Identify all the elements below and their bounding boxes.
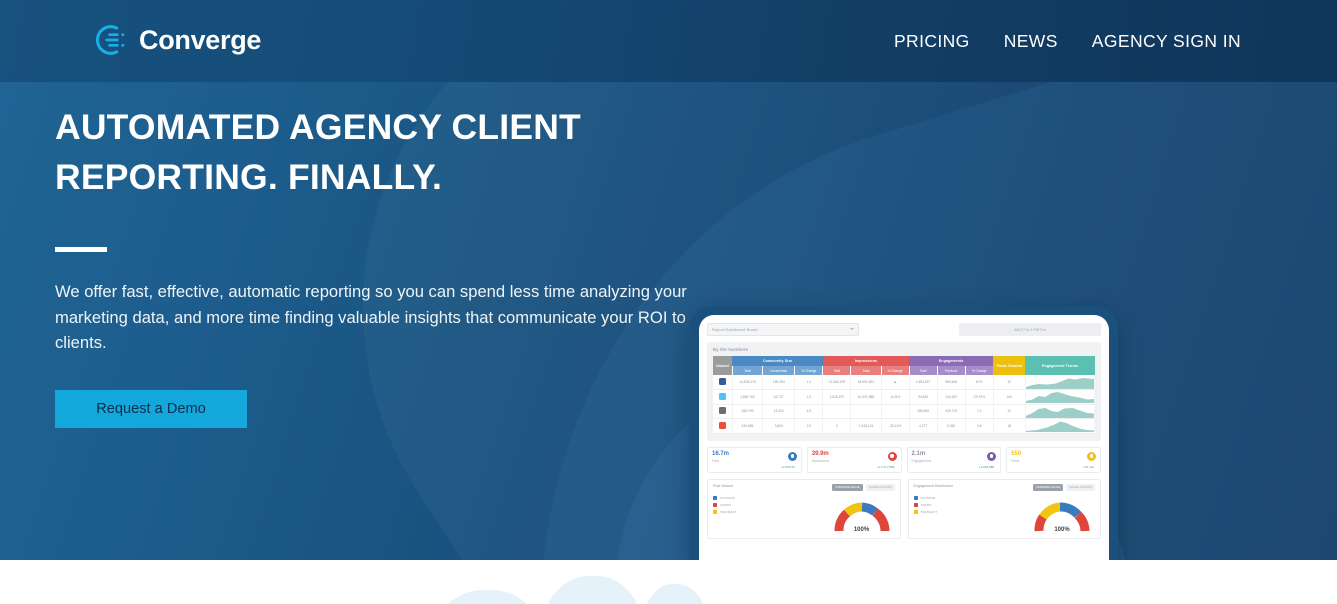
nav-link-news[interactable]: NEWS bbox=[1004, 28, 1058, 54]
hero-title-line-2: REPORTING. FINALLY. bbox=[55, 157, 442, 197]
dashboard-filter-select[interactable]: Report Dashboard Board bbox=[707, 323, 859, 336]
compare-value-button[interactable]: COMPARE VALUE bbox=[1033, 484, 1063, 491]
cell-engagements-total: 1,654,827 bbox=[909, 375, 937, 390]
site-header: Converge PRICING NEWS AGENCY SIGN IN bbox=[0, 0, 1337, 82]
cell-community-incremental: 169,383 bbox=[763, 375, 795, 390]
legend-swatch-assist bbox=[713, 503, 717, 507]
col-header-engagement-trends: Engagement Trends bbox=[1025, 356, 1094, 375]
sub-header-impressions-paid: Paid bbox=[823, 366, 851, 375]
cell-engagements-previous: 439,719 bbox=[937, 404, 965, 419]
sparkline-cell bbox=[1025, 375, 1094, 390]
compare-value-button[interactable]: COMPARE VALUE bbox=[832, 484, 862, 491]
kpi-delta: +1,603.885 bbox=[979, 465, 995, 469]
kpi-card-impressions[interactable]: 39.9m Impressions +17.3x (788) bbox=[807, 447, 902, 473]
panel-title: By the Numbers bbox=[713, 347, 1095, 352]
cell-engagements-total: 4,277 bbox=[909, 419, 937, 434]
cell-community-total: 368,799 bbox=[732, 404, 762, 419]
cell-engagements-change: 67% bbox=[965, 375, 993, 390]
gauge-value: 100% bbox=[834, 527, 890, 533]
cell-posts-created: 18 bbox=[993, 419, 1025, 434]
sparkline-cell bbox=[1025, 419, 1094, 434]
sub-header-community-total: Total bbox=[732, 366, 762, 375]
sub-header-engagements-total: Total bbox=[909, 366, 937, 375]
cell-impressions-paid: 12,552,209 bbox=[823, 375, 851, 390]
cell-impressions-change: ▲ bbox=[881, 375, 909, 390]
cell-impressions-change: - bbox=[881, 404, 909, 419]
cell-community-incremental: 14,320 bbox=[763, 404, 795, 419]
decorative-blob-3 bbox=[640, 584, 710, 604]
col-group-impressions: Impressions bbox=[823, 356, 909, 366]
legend-label: ACTIVATE bbox=[921, 496, 936, 500]
channel-cell bbox=[713, 419, 732, 434]
sparkline-cell bbox=[1025, 404, 1094, 419]
facebook-icon bbox=[719, 378, 726, 385]
cell-impressions-change: -30.12% bbox=[881, 419, 909, 434]
gauge-card-post-volume: Post Volume COMPARE VALUE SHARE ACROSS A… bbox=[707, 479, 901, 539]
share-across-button[interactable]: SHARE ACROSS bbox=[866, 484, 895, 491]
engagement-trend-sparkline bbox=[1026, 376, 1094, 389]
brand-name: Converge bbox=[139, 21, 261, 59]
cell-engagements-change: 0.8 bbox=[965, 419, 993, 434]
title-divider-rule bbox=[55, 247, 107, 252]
brand-logo[interactable]: Converge bbox=[92, 21, 261, 59]
kpi-label: Fans bbox=[712, 459, 797, 463]
metrics-table: Channel Community Size Impressions Engag… bbox=[713, 356, 1095, 434]
legend-label: TRANSACT bbox=[921, 510, 938, 514]
kpi-value: 39.9m bbox=[812, 451, 897, 458]
cell-posts-created: 42 bbox=[993, 375, 1025, 390]
cell-engagements-total: 359,480 bbox=[909, 404, 937, 419]
by-the-numbers-panel: By the Numbers Channel Community Size Im… bbox=[707, 342, 1101, 441]
sparkline-cell bbox=[1025, 390, 1094, 405]
cell-community-change: 4.0 bbox=[795, 404, 823, 419]
kpi-card-engagements[interactable]: 2.1m Engagements +1,603.885 bbox=[907, 447, 1002, 473]
kpi-delta: - 3.0 min bbox=[1082, 465, 1094, 469]
gauge-card-engagement-distribution: Engagement Distribution COMPARE VALUE SH… bbox=[908, 479, 1102, 539]
legend-swatch-activate bbox=[914, 496, 918, 500]
legend-label: ACTIVATE bbox=[720, 496, 735, 500]
cell-community-total: 14,526,275 bbox=[732, 375, 762, 390]
engagements-badge-icon bbox=[987, 452, 996, 461]
landing-page: Converge PRICING NEWS AGENCY SIGN IN AUT… bbox=[0, 0, 1337, 604]
hero-subtitle: We offer fast, effective, automatic repo… bbox=[55, 279, 695, 356]
posts-badge-icon bbox=[1087, 452, 1096, 461]
legend-swatch-transact bbox=[914, 510, 918, 514]
gauge-card-title: Post Volume bbox=[713, 484, 733, 488]
chevron-down-icon bbox=[850, 328, 854, 330]
cell-posts-created: 164 bbox=[993, 390, 1025, 405]
table-group-header-row: Channel Community Size Impressions Engag… bbox=[713, 356, 1095, 366]
kpi-card-row: 16.7m Fans +1,636.33 39.9m Impressions +… bbox=[707, 447, 1101, 473]
converge-c-mark-icon bbox=[92, 21, 130, 59]
kpi-card-fans[interactable]: 16.7m Fans +1,636.33 bbox=[707, 447, 802, 473]
legend-swatch-assist bbox=[914, 503, 918, 507]
hero-title: AUTOMATED AGENCY CLIENT REPORTING. FINAL… bbox=[55, 102, 695, 202]
cell-engagements-previous: 5,360 bbox=[937, 419, 965, 434]
legend-swatch-activate bbox=[713, 496, 717, 500]
next-section-band bbox=[0, 560, 1337, 604]
gauge-card-row: Post Volume COMPARE VALUE SHARE ACROSS A… bbox=[707, 479, 1101, 539]
engagement-trend-sparkline bbox=[1026, 390, 1094, 403]
col-header-channel: Channel bbox=[713, 356, 732, 375]
table-row[interactable]: 249,886 3,604 2.0 0 1,348,124 -30.12% 4,… bbox=[713, 419, 1095, 434]
cell-impressions-total: 18,991,832 bbox=[851, 375, 881, 390]
sub-header-engagements-previous: Previous bbox=[937, 366, 965, 375]
col-header-posts-created: Posts Created bbox=[993, 356, 1025, 375]
dashboard-filter-value: Report Dashboard Board bbox=[712, 327, 757, 332]
sub-header-engagements-change: % Change bbox=[965, 366, 993, 375]
cell-community-total: 249,886 bbox=[732, 419, 762, 434]
kpi-delta: +17.3x (788) bbox=[877, 465, 894, 469]
channel-cell bbox=[713, 404, 732, 419]
cell-engagements-previous: 980,646 bbox=[937, 375, 965, 390]
kpi-value: 2.1m bbox=[912, 451, 997, 458]
cell-engagements-total: 94,834 bbox=[909, 390, 937, 405]
decorative-blob-1 bbox=[430, 590, 545, 604]
engagement-trend-sparkline bbox=[1026, 419, 1094, 432]
cell-impressions-paid: 0 bbox=[823, 419, 851, 434]
cell-engagements-change: 7.4 bbox=[965, 404, 993, 419]
cell-impressions-change: -8.41% bbox=[881, 390, 909, 405]
legend-label: ASSIST bbox=[921, 503, 932, 507]
cell-community-total: 1,860,763 bbox=[732, 390, 762, 405]
sub-header-community-incremental: Incremental bbox=[763, 366, 795, 375]
cell-community-change: 2.0 bbox=[795, 419, 823, 434]
hero-title-line-1: AUTOMATED AGENCY CLIENT bbox=[55, 107, 581, 147]
cell-community-change: 1.0 bbox=[795, 390, 823, 405]
impressions-badge-icon bbox=[888, 452, 897, 461]
legend-swatch-transact bbox=[713, 510, 717, 514]
cell-impressions-paid: - bbox=[823, 404, 851, 419]
main-navigation: PRICING NEWS AGENCY SIGN IN bbox=[894, 28, 1241, 54]
kpi-value: 550 bbox=[1011, 451, 1096, 458]
cell-community-change: 1.2 bbox=[795, 375, 823, 390]
engagement-trend-sparkline bbox=[1026, 405, 1094, 418]
dashboard-screen: Report Dashboard Board 8/1/17 to 17/9/7 … bbox=[699, 315, 1109, 560]
cell-engagements-previous: 134,320 bbox=[937, 390, 965, 405]
cell-impressions-total: 10,331,988 bbox=[851, 390, 881, 405]
kpi-label: Posts bbox=[1011, 459, 1096, 463]
kpi-value: 16.7m bbox=[712, 451, 797, 458]
dashboard-device-mockup: Report Dashboard Board 8/1/17 to 17/9/7 … bbox=[690, 306, 1118, 560]
youtube-icon bbox=[719, 422, 726, 429]
cell-impressions-total: 1,348,124 bbox=[851, 419, 881, 434]
kpi-delta: +1,636.33 bbox=[781, 465, 795, 469]
kpi-label: Engagements bbox=[912, 459, 997, 463]
twitter-icon bbox=[719, 393, 726, 400]
sub-header-impressions-change: % Change bbox=[881, 366, 909, 375]
col-group-engagements: Engagements bbox=[909, 356, 993, 366]
date-range-picker[interactable]: 8/1/17 to 17/9/7 m bbox=[959, 323, 1101, 336]
sub-header-community-change: % Change bbox=[795, 366, 823, 375]
cell-engagements-change: -29.37% bbox=[965, 390, 993, 405]
nav-link-agency-sign-in[interactable]: AGENCY SIGN IN bbox=[1092, 28, 1241, 54]
channel-cell bbox=[713, 375, 732, 390]
sub-header-impressions-total: Total bbox=[851, 366, 881, 375]
decorative-blob-2 bbox=[540, 576, 645, 604]
cell-impressions-total: - bbox=[851, 404, 881, 419]
legend-label: TRANSACT bbox=[720, 510, 737, 514]
cell-community-incremental: 16,737 bbox=[763, 390, 795, 405]
donut-gauge-chart: 100% bbox=[1034, 499, 1090, 535]
fans-badge-icon bbox=[788, 452, 797, 461]
col-group-community-size: Community Size bbox=[732, 356, 823, 366]
nav-link-pricing[interactable]: PRICING bbox=[894, 28, 970, 54]
dashboard-toolbar: Report Dashboard Board 8/1/17 to 17/9/7 … bbox=[707, 322, 1101, 336]
hero-section: AUTOMATED AGENCY CLIENT REPORTING. FINAL… bbox=[0, 82, 1337, 560]
donut-gauge-chart: 100% bbox=[834, 499, 890, 535]
cell-community-incremental: 3,604 bbox=[763, 419, 795, 434]
gauge-value: 100% bbox=[1034, 527, 1090, 533]
request-a-demo-button[interactable]: Request a Demo bbox=[55, 390, 247, 428]
gauge-card-title: Engagement Distribution bbox=[914, 484, 953, 488]
hero-copy: AUTOMATED AGENCY CLIENT REPORTING. FINAL… bbox=[55, 102, 695, 428]
table-row[interactable]: 368,799 14,320 4.0 - - - 359,480 439,719… bbox=[713, 404, 1095, 419]
channel-cell bbox=[713, 390, 732, 405]
cell-impressions-paid: 1,818,197 bbox=[823, 390, 851, 405]
instagram-icon bbox=[719, 407, 726, 414]
table-row[interactable]: 1,860,763 16,737 1.0 1,818,197 10,331,98… bbox=[713, 390, 1095, 405]
kpi-card-posts[interactable]: 550 Posts - 3.0 min bbox=[1006, 447, 1101, 473]
legend-label: ASSIST bbox=[720, 503, 731, 507]
kpi-label: Impressions bbox=[812, 459, 897, 463]
table-row[interactable]: 14,526,275 169,383 1.2 12,552,209 18,991… bbox=[713, 375, 1095, 390]
cell-posts-created: 31 bbox=[993, 404, 1025, 419]
share-across-button[interactable]: SHARE ACROSS bbox=[1066, 484, 1095, 491]
